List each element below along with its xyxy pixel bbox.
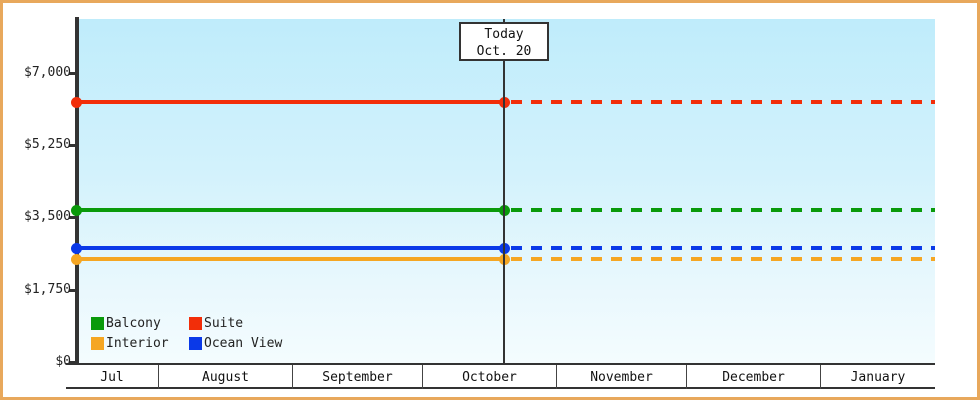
today-date: Oct. 20: [461, 43, 547, 60]
legend-swatch-icon-suite: [189, 317, 202, 330]
series-line-ocean-view-solid: [77, 246, 504, 250]
today-label: Today: [461, 26, 547, 43]
series-line-balcony-dashed: [511, 208, 935, 212]
legend-swatch-icon-interior: [91, 337, 104, 350]
y-axis-label-7000: $7,000: [24, 65, 71, 80]
legend-label-ocean-view: Ocean View: [204, 336, 282, 351]
legend-item-interior[interactable]: Interior: [91, 336, 189, 351]
today-vertical-line: [503, 19, 505, 363]
y-axis-label-5250: $5,250: [24, 137, 71, 152]
y-axis-label-3500: $3,500: [24, 209, 71, 224]
y-axis-spine: [75, 17, 79, 365]
series-line-interior-solid: [77, 257, 504, 261]
x-axis-month-october[interactable]: October: [423, 365, 557, 389]
series-line-balcony-solid: [77, 208, 504, 212]
plot-background: [78, 19, 935, 363]
legend-row-1: Balcony Suite: [91, 313, 282, 333]
series-line-suite-solid: [77, 100, 504, 104]
x-axis-month-jul[interactable]: Jul: [66, 365, 159, 389]
chart-frame: $7,000 $5,250 $3,500 $1,750 $0 Tod: [0, 0, 980, 400]
price-trend-chart: $7,000 $5,250 $3,500 $1,750 $0 Tod: [3, 3, 980, 403]
series-marker-balcony-start: [71, 205, 82, 216]
series-line-interior-dashed: [511, 257, 935, 261]
x-axis-month-november[interactable]: November: [557, 365, 687, 389]
x-axis-month-january[interactable]: January: [821, 365, 935, 389]
series-marker-suite-start: [71, 97, 82, 108]
series-marker-interior-start: [71, 254, 82, 265]
legend-item-ocean-view[interactable]: Ocean View: [189, 336, 282, 351]
legend-label-interior: Interior: [106, 336, 169, 351]
y-axis-label-1750: $1,750: [24, 282, 71, 297]
x-axis-month-table: Jul August September October November De…: [66, 363, 935, 389]
x-axis-month-december[interactable]: December: [687, 365, 821, 389]
legend-row-2: Interior Ocean View: [91, 333, 282, 353]
series-line-ocean-view-dashed: [511, 246, 935, 250]
today-annotation-box: Today Oct. 20: [459, 22, 549, 61]
legend-label-suite: Suite: [204, 316, 243, 331]
chart-legend: Balcony Suite Interior Ocean View: [91, 313, 282, 353]
legend-swatch-icon-ocean-view: [189, 337, 202, 350]
legend-label-balcony: Balcony: [106, 316, 161, 331]
x-axis-month-september[interactable]: September: [293, 365, 423, 389]
series-line-suite-dashed: [511, 100, 935, 104]
x-axis-month-august[interactable]: August: [159, 365, 293, 389]
legend-swatch-icon-balcony: [91, 317, 104, 330]
legend-item-suite[interactable]: Suite: [189, 316, 243, 331]
series-marker-ocean-view-start: [71, 243, 82, 254]
legend-item-balcony[interactable]: Balcony: [91, 316, 189, 331]
